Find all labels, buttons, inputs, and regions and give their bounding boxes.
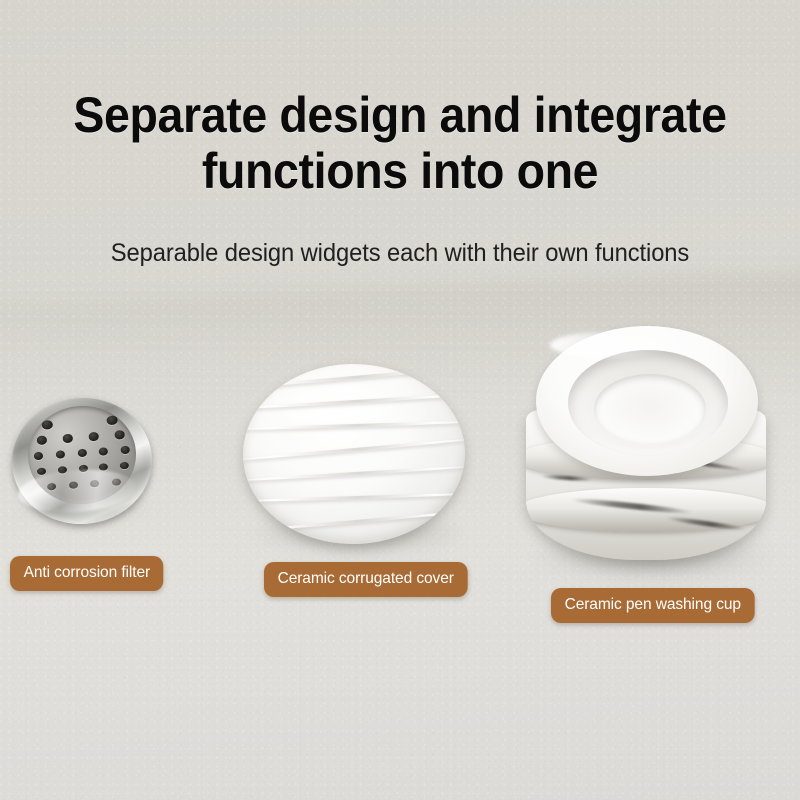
cover-ridge: [241, 492, 466, 503]
page-title: Separate design and integrate functions …: [28, 88, 772, 199]
filter-hole: [36, 435, 47, 444]
cup-rim-highlight: [550, 332, 670, 358]
product-anti-corrosion-filter: [8, 392, 158, 532]
filter-hole: [99, 448, 108, 456]
label-ceramic-pen-washing-cup[interactable]: Ceramic pen washing cup: [551, 588, 755, 623]
filter-hole: [114, 430, 125, 439]
filter-hole: [34, 452, 43, 460]
filter-hole: [107, 416, 118, 425]
label-ceramic-corrugated-cover[interactable]: Ceramic corrugated cover: [264, 562, 467, 597]
product-feature-banner: Separate design and integrate functions …: [0, 0, 800, 800]
filter-hole: [77, 449, 86, 457]
filter-hole: [42, 420, 53, 429]
filter-hole: [56, 451, 65, 459]
product-ceramic-corrugated-cover: [239, 360, 479, 560]
product-ceramic-pen-washing-cup: [520, 326, 780, 588]
cup-interior-well-bottom: [594, 374, 706, 444]
filter-hole: [62, 434, 73, 443]
filter-hole: [119, 462, 128, 470]
page-subtitle: Separable design widgets each with their…: [20, 239, 780, 268]
filter-hole: [88, 432, 99, 441]
filter-hole: [120, 446, 129, 454]
label-anti-corrosion-filter[interactable]: Anti corrosion filter: [10, 556, 164, 591]
cover-ridge: [241, 465, 466, 483]
cover-ridge: [241, 437, 466, 462]
